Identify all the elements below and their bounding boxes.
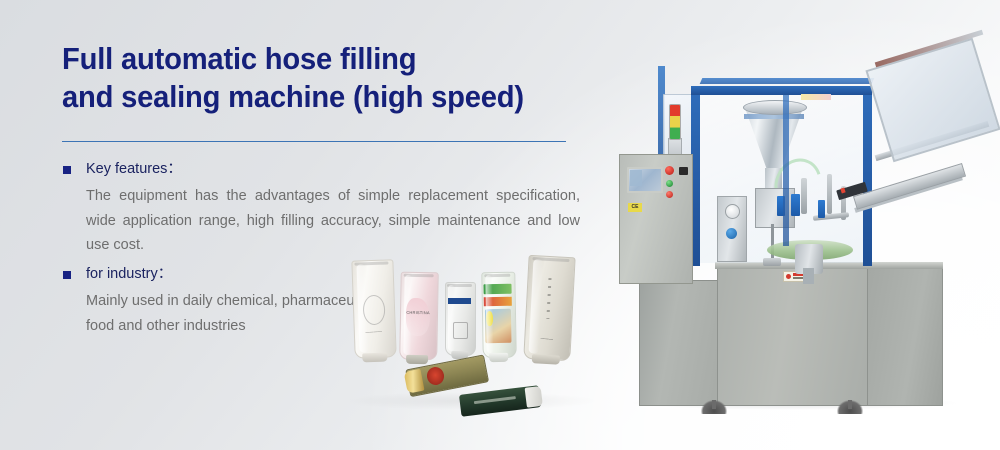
- tube-text: CHRISTINA: [404, 310, 431, 315]
- dark-green-tube: [459, 385, 541, 417]
- hmi-screen-content: [630, 170, 642, 186]
- feature-label: for industry：: [86, 265, 172, 284]
- selector-switch[interactable]: [679, 167, 688, 175]
- red-stop-button[interactable]: [666, 191, 673, 198]
- tube-graphic: [453, 322, 469, 340]
- tube-cap: [531, 354, 560, 364]
- warning-icon: [786, 274, 791, 279]
- tube-graphic: [406, 298, 430, 336]
- title-divider: [62, 141, 566, 142]
- square-bullet-icon: [63, 166, 71, 174]
- turntable-shaft: [803, 268, 814, 284]
- foot-stem: [848, 400, 852, 409]
- adjustable-leveling-foot: [701, 400, 727, 414]
- tube-cap: [489, 353, 508, 362]
- cabinet-door-left: [717, 268, 869, 406]
- feature-body: The equipment has the advantages of simp…: [86, 184, 580, 258]
- green-start-button[interactable]: [666, 180, 673, 187]
- machine-photo: CE: [605, 28, 997, 400]
- sealing-head-unit: [791, 194, 800, 216]
- nozzle-tip: [763, 258, 781, 266]
- stainless-steel-base-cabinet: [639, 280, 719, 406]
- blue-frame-mid-post: [783, 86, 789, 246]
- machine-arm: [827, 174, 832, 214]
- machine-arm: [801, 178, 807, 214]
- regulator-knob: [726, 228, 737, 239]
- sunplay-green-tube: [481, 272, 514, 357]
- tube-cap: [525, 386, 543, 408]
- feature-body: Mainly used in daily chemical, pharmaceu…: [86, 289, 386, 338]
- tubes-photo: ———— CHRISTINA: [345, 250, 615, 430]
- ce-label: CE: [628, 203, 642, 212]
- blue-frame-right-post: [863, 86, 872, 266]
- white-cream-tube: ————: [351, 259, 394, 356]
- emergency-stop-button[interactable]: [665, 166, 674, 175]
- grey-blue-label-tube: [445, 282, 474, 354]
- feature-heading-row: Key features：: [62, 160, 582, 180]
- sealing-head-unit: [818, 200, 825, 218]
- cabinet-top-rail: [715, 262, 943, 269]
- pink-white-tube: CHRISTINA: [399, 272, 436, 359]
- product-banner: Full automatic hose filling and sealing …: [0, 0, 1000, 450]
- frame-warning-label: [801, 94, 831, 100]
- large-beige-tube: ———: [523, 255, 573, 359]
- blue-frame-back-rail: [700, 78, 875, 84]
- feature-block-key-features: Key features： The equipment has the adva…: [62, 160, 582, 258]
- page-title: Full automatic hose filling and sealing …: [62, 40, 551, 116]
- text-column: Full automatic hose filling and sealing …: [62, 40, 582, 116]
- cabinet-door-right: [867, 268, 943, 406]
- tube-highlight: [485, 275, 493, 352]
- filling-nozzle-block: [755, 188, 795, 228]
- tube-text: ————: [359, 329, 390, 335]
- feature-label: Key features：: [86, 160, 182, 179]
- pressure-gauge: [725, 204, 740, 219]
- tube-highlight: [448, 285, 454, 351]
- foot-stem: [712, 400, 716, 409]
- tube-brand-bar: [448, 298, 471, 304]
- adjustable-leveling-foot: [837, 400, 863, 414]
- tube-cap: [362, 353, 387, 363]
- hinged-transparent-cover: [865, 38, 1000, 163]
- tube-cap: [406, 355, 428, 364]
- blue-frame-top-rail: [691, 86, 872, 95]
- stack-light-icon: [669, 104, 681, 140]
- hopper-rim: [743, 100, 807, 115]
- square-bullet-icon: [63, 271, 71, 279]
